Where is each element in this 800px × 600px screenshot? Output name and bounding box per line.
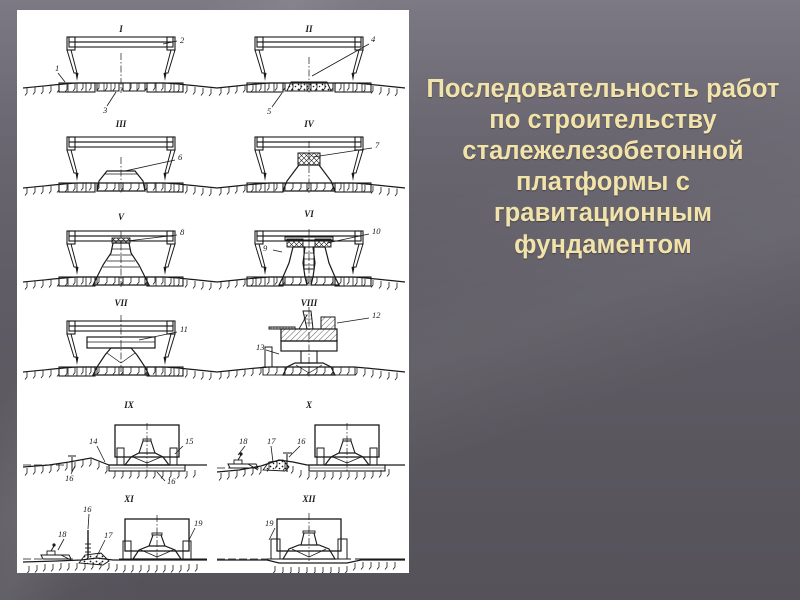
- panel-3-callout-6: 6: [178, 152, 183, 162]
- panel-6-callout-10: 10: [372, 226, 381, 236]
- panel-8: VIII: [217, 298, 405, 380]
- panel-2: II 4 5: [217, 24, 405, 116]
- panel-10-callout-16: 16: [297, 436, 306, 446]
- panel-2-callout-5: 5: [267, 106, 271, 116]
- panel-11: XI: [23, 494, 207, 573]
- panel-7: VII: [23, 298, 217, 380]
- panel-2-callout-4: 4: [371, 34, 376, 44]
- panel-10-roman: X: [305, 400, 313, 410]
- panel-7-callout-11: 11: [180, 324, 188, 334]
- panel-11-callout-16: 16: [83, 504, 92, 514]
- panel-1-callout-1: 1: [55, 63, 59, 73]
- panel-11-callout-19: 19: [194, 518, 203, 528]
- panel-11-callout-17: 17: [104, 530, 113, 540]
- panel-8-callout-12: 12: [372, 310, 381, 320]
- presentation-slide: I: [0, 0, 800, 600]
- panel-8-roman: VIII: [301, 298, 318, 308]
- panel-10-callout-18: 18: [239, 436, 248, 446]
- panel-11-callout-18: 18: [58, 529, 67, 539]
- panel-12: XII: [217, 494, 405, 573]
- slide-title: Последовательность работ по строительств…: [414, 74, 792, 261]
- panel-2-roman: II: [304, 24, 313, 34]
- panel-11-roman: XI: [123, 494, 134, 504]
- panel-1-callout-3: 3: [102, 105, 107, 115]
- panel-4-callout-7: 7: [375, 140, 380, 150]
- panel-4-roman: IV: [303, 119, 315, 129]
- construction-sequence-diagram: I: [17, 10, 409, 573]
- panel-9-callout-16a: 16: [65, 473, 74, 483]
- panel-6-roman: VI: [304, 209, 314, 219]
- panel-1-callout-2: 2: [180, 35, 185, 45]
- panel-5-callout-8: 8: [180, 227, 185, 237]
- panel-3-roman: III: [115, 119, 127, 129]
- panel-12-callout-19: 19: [265, 518, 274, 528]
- panel-10: X: [217, 400, 405, 481]
- figure-panel: I: [17, 10, 409, 573]
- panel-5: V: [23, 212, 217, 290]
- panel-12-roman: XII: [301, 494, 316, 504]
- panel-6: VI: [217, 209, 405, 290]
- panel-9-callout-16b: 16: [167, 476, 176, 486]
- panel-9-callout-15: 15: [185, 436, 194, 446]
- panel-1-roman: I: [118, 24, 123, 34]
- panel-8-callout-13: 13: [256, 342, 265, 352]
- panel-7-roman: VII: [114, 298, 128, 308]
- panel-5-roman: V: [118, 212, 125, 222]
- panel-9-roman: IX: [123, 400, 135, 410]
- panel-3: III 6: [23, 119, 217, 196]
- panel-10-callout-17: 17: [267, 436, 276, 446]
- panel-9: IX: [23, 400, 207, 486]
- panel-9-callout-14: 14: [89, 436, 98, 446]
- panel-6-callout-9: 9: [263, 243, 268, 253]
- panel-1: I: [23, 24, 217, 115]
- panel-4: IV 7: [217, 119, 405, 196]
